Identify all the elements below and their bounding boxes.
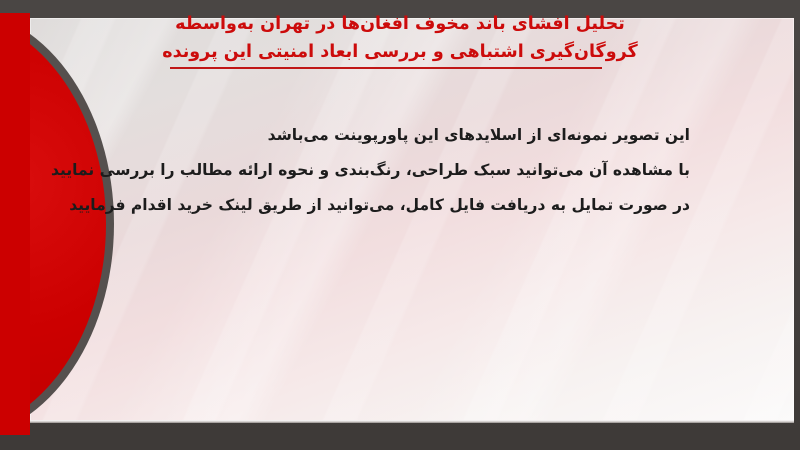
red-edge-strip	[0, 13, 30, 435]
slide-body-line-2: با مشاهده آن می‌توانید سبک طراحی، رنگ‌بن…	[100, 153, 690, 188]
slide-body-line-1: این تصویر نمونه‌ای از اسلایدهای این پاور…	[100, 118, 690, 153]
slide-title-underline	[170, 67, 602, 69]
presentation-slide: تحلیل افشای باند مخوف افغان‌ها در تهران …	[0, 0, 800, 450]
slide-title-line-2: گروگان‌گیری اشتباهی و بررسی ابعاد امنیتی…	[40, 38, 760, 66]
slide-title-line-1: تحلیل افشای باند مخوف افغان‌ها در تهران …	[40, 10, 760, 38]
slide-body-text: این تصویر نمونه‌ای از اسلایدهای این پاور…	[100, 118, 690, 223]
slide-body-line-3: در صورت تمایل به دریافت فایل کامل، می‌تو…	[100, 188, 690, 223]
panel-bottom-rim	[30, 420, 794, 423]
slide-title: تحلیل افشای باند مخوف افغان‌ها در تهران …	[40, 10, 760, 69]
